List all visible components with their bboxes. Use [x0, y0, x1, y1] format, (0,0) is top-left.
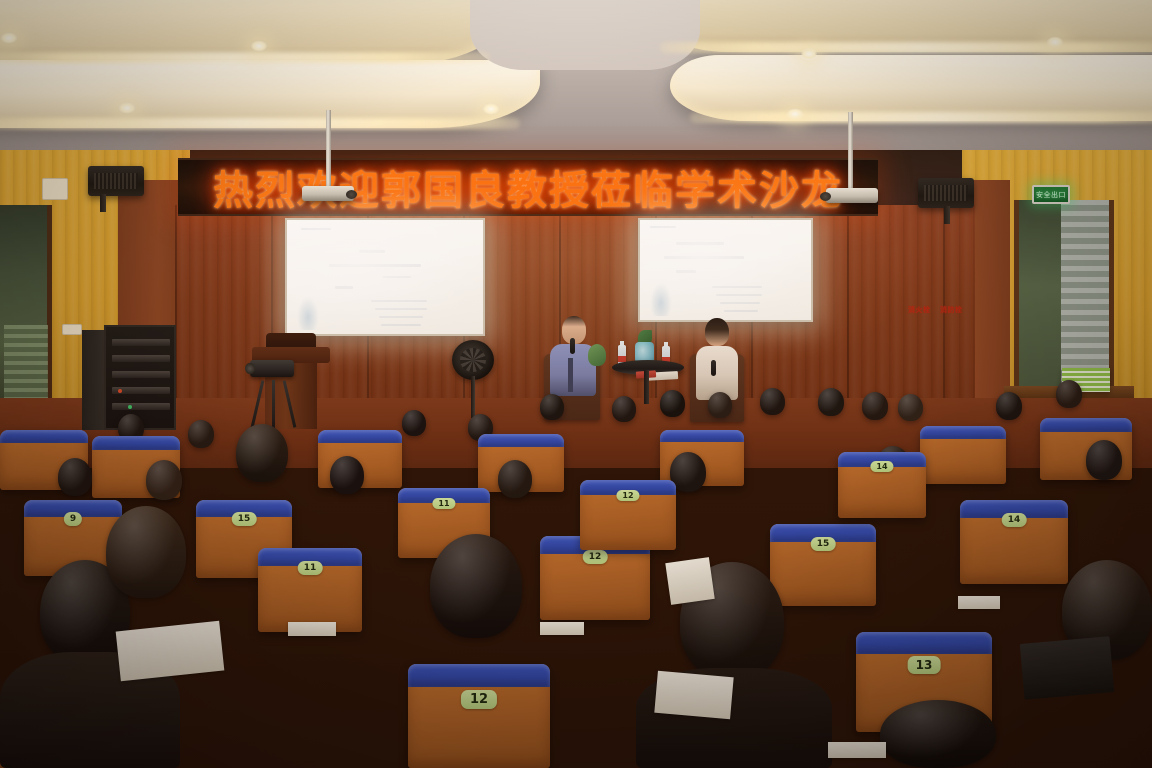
audience-head-b5	[1056, 380, 1082, 408]
seat-row-back-7[interactable]	[920, 426, 1006, 484]
audience-head-m1	[58, 458, 92, 496]
audience-head-b10	[760, 388, 785, 415]
wall-speaker-right	[918, 178, 974, 208]
fan-pole	[471, 376, 475, 418]
speaker-host-head	[705, 318, 729, 346]
audience-head-b3	[898, 394, 923, 421]
side-table-leg	[644, 370, 649, 404]
ceiling-coffer-center	[470, 0, 700, 70]
downlight-2	[0, 32, 18, 44]
fire-hydrant-sign-left: 消火栓	[908, 305, 931, 315]
audience-head-b4	[996, 392, 1022, 420]
av-equipment-rack	[104, 325, 176, 430]
tripod-leg-2	[272, 380, 275, 428]
audience-head-m2	[146, 460, 182, 500]
seat-number-badge: 14	[870, 461, 893, 472]
audience-head-f5	[880, 700, 996, 768]
fire-hydrant-sign-right: 消防栓	[940, 305, 963, 315]
seat-number-badge: 11	[432, 498, 455, 509]
projection-screen-right	[638, 218, 813, 322]
projector-pole-left	[326, 110, 331, 188]
downlight-1	[250, 40, 268, 52]
video-camera	[250, 360, 294, 377]
speaker-host-microphone	[711, 360, 716, 376]
audience-head-f3	[430, 534, 522, 638]
audience-head-b7	[612, 396, 636, 422]
seat-number-badge: 12	[616, 490, 639, 501]
seat-number-badge: 11	[298, 561, 323, 575]
downlight-7	[1046, 36, 1064, 48]
seat[interactable]: 11	[258, 548, 362, 632]
slide-glare-left	[287, 220, 483, 334]
downlight-4	[482, 103, 500, 115]
audience-head-b1	[818, 388, 844, 416]
projection-screen-left	[285, 218, 485, 336]
fan-head	[452, 340, 494, 380]
seat-number-badge: 13	[908, 656, 941, 674]
bouquet	[588, 344, 606, 366]
downlight-6	[800, 48, 818, 60]
cove-light-left-1	[0, 52, 490, 63]
exit-sign-label: 安全出口	[1036, 190, 1066, 200]
tripod-leg-1	[251, 380, 265, 427]
seat-number-badge: 14	[1002, 513, 1027, 527]
cove-light-left-2	[0, 118, 520, 129]
audience-head-b9	[708, 392, 732, 418]
projector-lens-right	[820, 192, 831, 201]
lecture-hall-photo: 安全出口 消火栓 消防栓 热烈欢迎郭国良教授莅临学术沙龙	[0, 0, 1152, 768]
audience-head-f2	[106, 506, 186, 598]
seat-number-badge: 15	[232, 512, 257, 526]
rack-unit-2	[112, 355, 170, 362]
emergency-exit-sign: 安全出口	[1032, 185, 1070, 204]
rack-unit-3	[112, 371, 170, 378]
seat-number-badge: 15	[811, 537, 836, 551]
seat[interactable]: 15	[770, 524, 876, 606]
audience-head-f7	[236, 424, 288, 482]
rack-power-led	[118, 389, 122, 393]
seat-label-sticker-4	[828, 742, 886, 758]
audience-head-b8	[660, 390, 685, 417]
seat-number-badge: 12	[461, 690, 497, 709]
audience-head-b2	[862, 392, 888, 420]
projector-right	[826, 188, 878, 203]
audience-laptop	[1020, 636, 1115, 700]
downlight-3	[118, 102, 136, 114]
rack-status-led	[128, 405, 132, 409]
audience-notes-3	[665, 557, 714, 605]
seat[interactable]: 14	[960, 500, 1068, 584]
rack-unit-5	[112, 403, 170, 410]
audience-head-m7	[1086, 440, 1122, 480]
seat[interactable]: 12	[408, 664, 550, 768]
audience-head-b12	[188, 420, 214, 448]
audience-head-b6	[540, 394, 564, 420]
ceiling	[0, 0, 1152, 175]
seat[interactable]: 14	[838, 452, 926, 518]
downlight-5	[786, 108, 804, 120]
audience-notes-2	[654, 671, 733, 719]
seat-label-sticker-1	[288, 622, 336, 636]
wall-speaker-left-bracket	[100, 194, 106, 212]
audience-head-m3	[330, 456, 364, 494]
projector-lens-left	[346, 190, 357, 199]
wall-speaker-right-bracket	[944, 206, 950, 224]
floor-fan	[452, 340, 494, 418]
rack-unit-1	[112, 339, 170, 346]
audience-head-m4	[498, 460, 532, 498]
projector-pole-right	[848, 112, 853, 190]
seat-number-badge: 9	[64, 512, 82, 526]
seat-label-sticker-3	[958, 596, 1000, 609]
seat[interactable]: 12	[580, 480, 676, 550]
camera-tripod	[248, 360, 304, 428]
led-welcome-banner: 热烈欢迎郭国良教授莅临学术沙龙	[178, 158, 878, 216]
speaker-guest-tie	[568, 358, 573, 392]
audience-notes-1	[116, 621, 225, 682]
seat-label-sticker-2	[540, 622, 584, 635]
wall-plate-upper-left	[42, 178, 68, 200]
seat-number-badge: 12	[583, 550, 608, 564]
audience-head-b13	[402, 410, 426, 436]
tripod-leg-3	[283, 380, 297, 427]
slide-glare-right	[640, 220, 811, 320]
wall-outlet-left	[62, 324, 82, 335]
wall-speaker-left	[88, 166, 144, 196]
cove-light-right-1	[660, 42, 1152, 53]
cove-light-right-2	[690, 112, 1152, 123]
speaker-guest-microphone	[570, 338, 575, 354]
